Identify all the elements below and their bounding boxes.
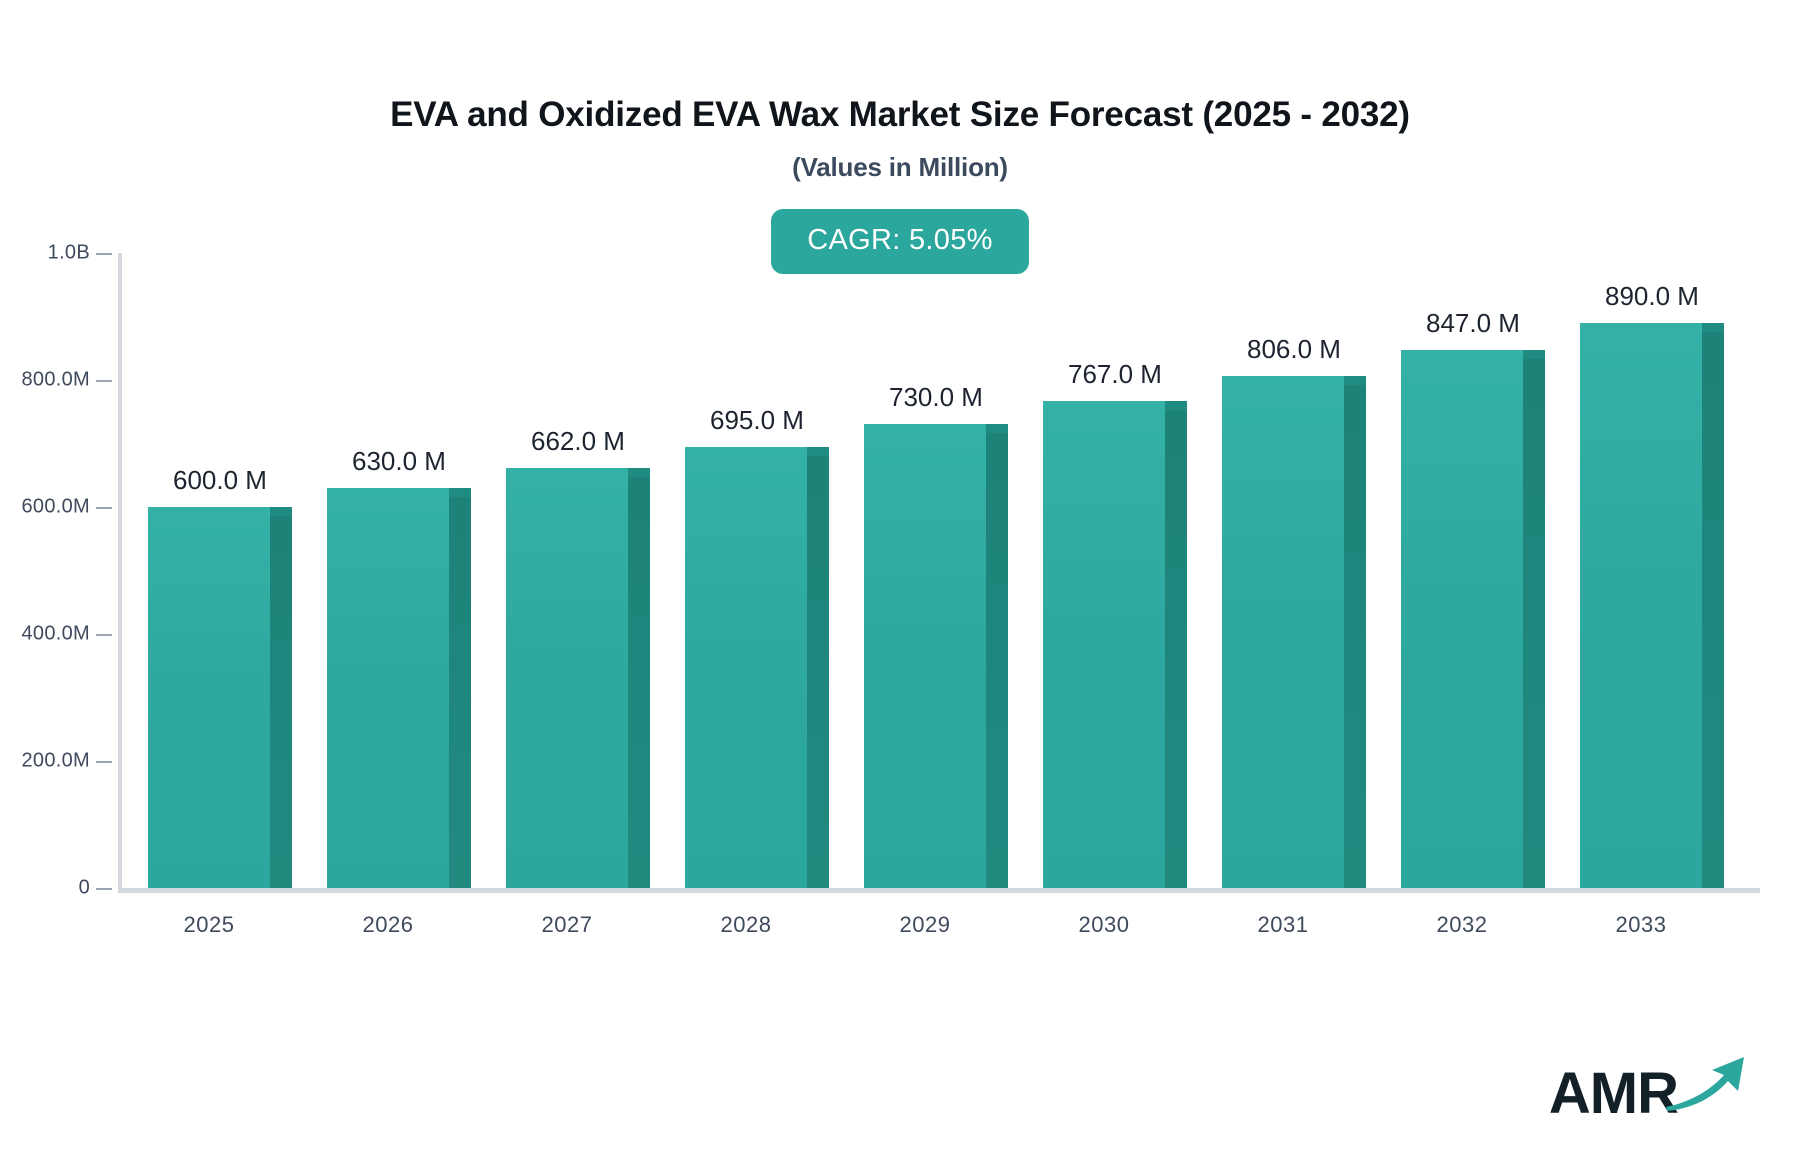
bar-value-label: 890.0 M (1522, 281, 1782, 312)
cagr-badge-container: CAGR: 5.05% (0, 209, 1800, 274)
bar-top-face (1165, 401, 1187, 410)
bar-side-face (986, 433, 1008, 888)
bar-front-face (327, 488, 449, 888)
bar-front-face (506, 468, 628, 888)
x-axis-label-2026: 2026 (258, 912, 518, 938)
x-axis-label-2031: 2031 (1153, 912, 1413, 938)
y-axis-line (118, 253, 122, 891)
bar-front-face (1401, 350, 1523, 888)
bar-2025[interactable] (148, 507, 292, 888)
amr-logo: AMR (1549, 1051, 1748, 1120)
y-axis-tick-label: 0 (0, 877, 90, 900)
bar-top-face (807, 447, 829, 456)
bar-2027[interactable] (506, 468, 650, 888)
bar-front-face (1043, 401, 1165, 888)
x-axis-line (118, 888, 1760, 893)
bar-top-face (1523, 350, 1545, 359)
x-axis-label-2029: 2029 (795, 912, 1055, 938)
y-axis-tick-label: 600.0M (0, 496, 90, 519)
chart-header: EVA and Oxidized EVA Wax Market Size For… (0, 0, 1800, 183)
bar-front-face (1580, 323, 1702, 888)
bar-2032[interactable] (1401, 350, 1545, 888)
y-axis-tick-label: 800.0M (0, 369, 90, 392)
y-axis-tick-mark (96, 888, 112, 890)
y-axis-tick-mark (96, 634, 112, 636)
growth-arrow-icon (1664, 1051, 1748, 1118)
bar-value-label: 806.0 M (1164, 334, 1424, 365)
bar-front-face (864, 424, 986, 888)
bar-top-face (628, 468, 650, 477)
bar-side-face (1702, 332, 1724, 888)
bar-value-label: 600.0 M (90, 465, 350, 496)
x-axis-label-2028: 2028 (616, 912, 876, 938)
bar-value-label: 662.0 M (448, 426, 708, 457)
bar-value-label: 730.0 M (806, 382, 1066, 413)
bar-side-face (1523, 359, 1545, 888)
bar-top-face (1702, 323, 1724, 332)
logo-wordmark: AMR (1549, 1068, 1678, 1120)
cagr-status-badge: CAGR: 5.05% (771, 209, 1028, 274)
bar-2029[interactable] (864, 424, 1008, 888)
bar-2031[interactable] (1222, 376, 1366, 888)
bar-value-label: 695.0 M (627, 405, 887, 436)
bar-side-face (449, 497, 471, 888)
bar-top-face (270, 507, 292, 516)
y-axis-tick-mark (96, 380, 112, 382)
bar-side-face (1344, 385, 1366, 888)
x-axis-label-2033: 2033 (1511, 912, 1771, 938)
page-title: EVA and Oxidized EVA Wax Market Size For… (0, 96, 1800, 135)
bar-front-face (685, 447, 807, 888)
y-axis-tick-mark (96, 761, 112, 763)
bar-value-label: 767.0 M (985, 359, 1245, 390)
chart-subtitle: (Values in Million) (0, 152, 1800, 183)
x-axis-label-2030: 2030 (974, 912, 1234, 938)
bar-top-face (986, 424, 1008, 433)
bar-side-face (270, 516, 292, 888)
bar-2033[interactable] (1580, 323, 1724, 888)
y-axis-tick-label: 200.0M (0, 750, 90, 773)
y-axis-tick-label: 400.0M (0, 623, 90, 646)
x-axis-label-2027: 2027 (437, 912, 697, 938)
bar-top-face (449, 488, 471, 497)
x-axis-label-2032: 2032 (1332, 912, 1592, 938)
bar-front-face (1222, 376, 1344, 888)
bar-side-face (1165, 410, 1187, 888)
bar-value-label: 847.0 M (1343, 308, 1603, 339)
bar-top-face (1344, 376, 1366, 385)
bar-2028[interactable] (685, 447, 829, 888)
bar-2026[interactable] (327, 488, 471, 888)
x-axis-label-2025: 2025 (79, 912, 339, 938)
bar-side-face (628, 477, 650, 888)
bar-side-face (807, 456, 829, 888)
bar-value-label: 630.0 M (269, 446, 529, 477)
bar-2030[interactable] (1043, 401, 1187, 888)
bar-front-face (148, 507, 270, 888)
y-axis-tick-mark (96, 507, 112, 509)
